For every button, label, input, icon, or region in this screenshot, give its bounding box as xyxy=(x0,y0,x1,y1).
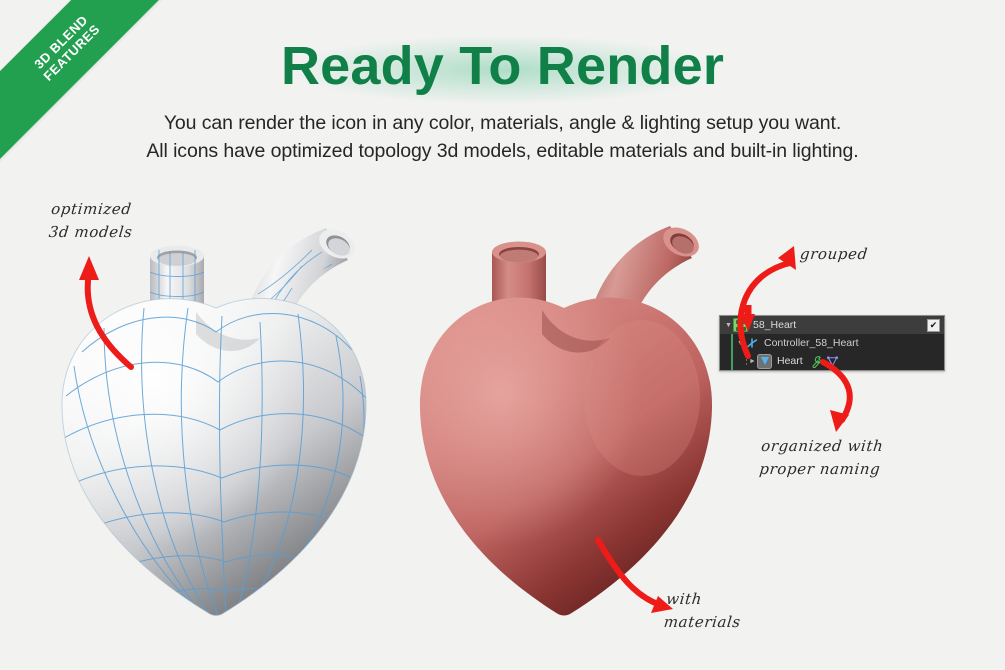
arrow-to-organized-note xyxy=(823,362,850,432)
outliner-collection-row[interactable]: ▼ 58_Heart ✔ xyxy=(720,316,944,334)
empty-axes-icon xyxy=(745,336,759,350)
mesh-data-icon[interactable] xyxy=(826,355,839,368)
collection-checkbox[interactable]: ✔ xyxy=(927,319,940,332)
note-with-materials: with materials xyxy=(663,588,745,635)
heart-mesh-label: Heart xyxy=(777,355,803,367)
expand-collapse-icon-heart[interactable]: ► xyxy=(748,358,757,365)
hierarchy-dotted-line xyxy=(746,355,747,367)
blender-outliner-panel[interactable]: ▼ 58_Heart ✔ ▼ Controller_58_Heart xyxy=(719,315,945,371)
page-title: Ready To Render xyxy=(0,39,1005,93)
expand-collapse-icon-controller[interactable]: ▼ xyxy=(736,340,745,347)
hierarchy-line xyxy=(731,352,733,370)
hierarchy-line xyxy=(731,334,733,352)
heart-body xyxy=(62,298,366,616)
outliner-heart-mesh-row[interactable]: ► Heart xyxy=(720,352,944,370)
heart-body xyxy=(420,298,712,616)
controller-label: Controller_58_Heart xyxy=(764,337,859,349)
red-shaded-heart-model xyxy=(414,216,724,628)
wrench-modifier-icon[interactable] xyxy=(810,355,823,368)
mesh-object-icon xyxy=(757,354,772,369)
note-grouped: grouped xyxy=(799,243,869,266)
collection-label: 58_Heart xyxy=(753,319,796,331)
subtitle-line-1: You can render the icon in any color, ma… xyxy=(0,112,1005,135)
poster-canvas: 3D BLEND FEATURES Ready To Render You ca… xyxy=(0,0,1005,670)
collection-icon xyxy=(733,318,748,332)
outliner-controller-row[interactable]: ▼ Controller_58_Heart xyxy=(720,334,944,352)
note-organized-naming: organized with proper naming xyxy=(758,435,885,482)
subtitle-line-2: All icons have optimized topology 3d mod… xyxy=(0,140,1005,163)
grey-wireframe-heart-model xyxy=(46,216,386,628)
note-optimized-3d-models: optimized 3d models xyxy=(48,198,136,245)
expand-collapse-icon-collection[interactable]: ▼ xyxy=(724,322,733,329)
